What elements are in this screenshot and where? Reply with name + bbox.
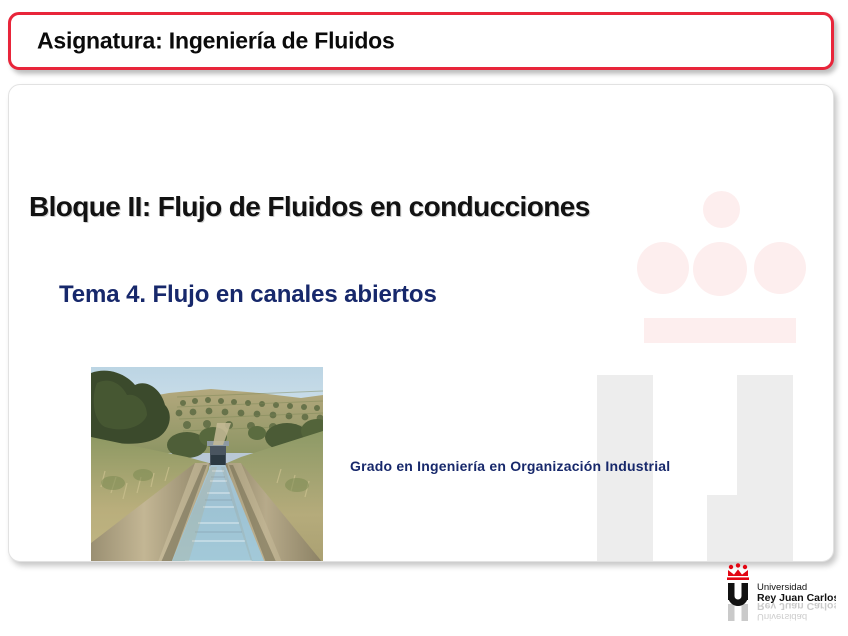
svg-text:Rey Juan Carlos: Rey Juan Carlos	[757, 600, 836, 612]
slide-topic-title: Tema 4. Flujo en canales abiertos	[59, 281, 437, 309]
letter-u-icon	[728, 583, 748, 606]
canal-photo	[91, 367, 323, 562]
u-watermark-bowl	[597, 495, 763, 562]
subject-title: Asignatura: Ingeniería de Fluidos	[37, 28, 395, 55]
crown-icon	[727, 563, 749, 580]
crown-watermark-circle-center	[693, 242, 747, 296]
crown-watermark-band	[644, 318, 796, 343]
slide-block-title: Bloque II: Flujo de Fluidos en conduccio…	[29, 191, 590, 223]
slide-card: Bloque II: Flujo de Fluidos en conduccio…	[8, 84, 834, 562]
urjc-logo: Universidad Rey Juan Carlos Universidad …	[724, 563, 836, 623]
u-watermark-right-stem	[737, 375, 793, 562]
crown-watermark-top-dot	[703, 191, 740, 228]
subject-header-card: Asignatura: Ingeniería de Fluidos	[8, 12, 834, 70]
degree-name-label: Grado en Ingeniería en Organización Indu…	[350, 458, 670, 474]
crown-watermark-circle-left	[637, 242, 689, 294]
crown-watermark-circle-right	[754, 242, 806, 294]
